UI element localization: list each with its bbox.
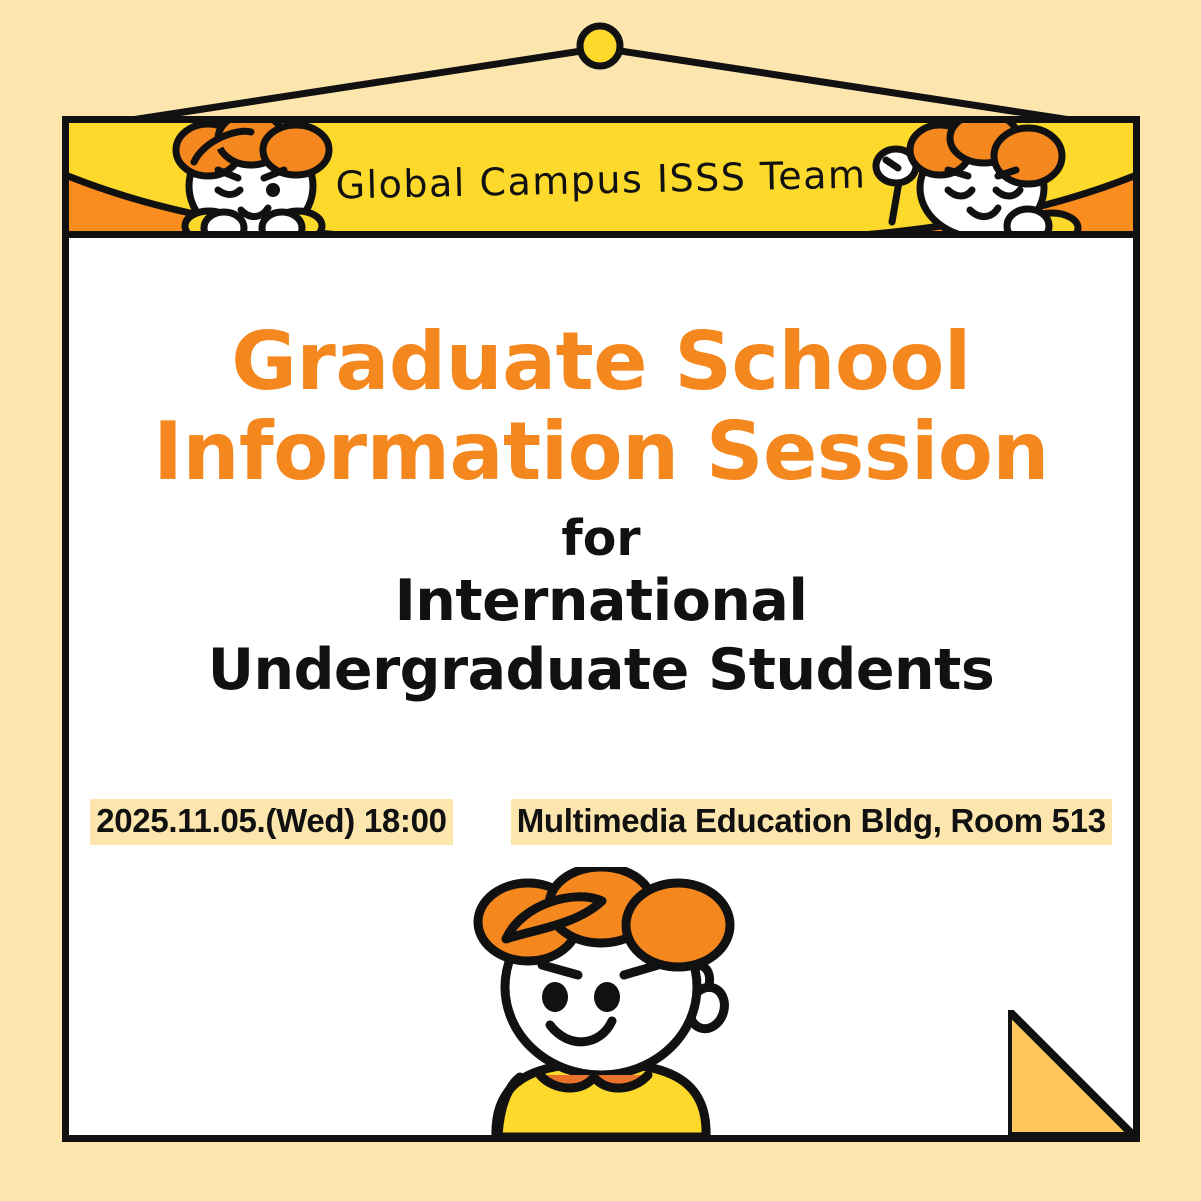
subtitle-line-2: Undergraduate Students bbox=[69, 636, 1133, 706]
right-character-hand bbox=[1007, 209, 1049, 238]
poster-root: Global Campus ISSS Team Graduate School … bbox=[0, 0, 1201, 1201]
poster-card: Global Campus ISSS Team Graduate School … bbox=[62, 116, 1140, 1142]
title-line-2: Information Session bbox=[69, 407, 1133, 497]
hanger-string-right bbox=[601, 48, 1077, 121]
title-line-1: Graduate School bbox=[69, 317, 1133, 407]
left-character-collar bbox=[238, 236, 272, 238]
main-character bbox=[436, 867, 766, 1137]
banner: Global Campus ISSS Team bbox=[68, 122, 1134, 238]
subtitle-line-1: International bbox=[69, 567, 1133, 637]
event-datetime: 2025.11.05.(Wed) 18:00 bbox=[90, 799, 453, 845]
left-character-eye-open bbox=[266, 183, 280, 197]
banner-character-right bbox=[856, 122, 1086, 238]
hanger-group bbox=[0, 0, 1201, 130]
hanger-string-left bbox=[125, 48, 601, 121]
left-character-hand-r bbox=[262, 212, 302, 238]
subtitle-for: for bbox=[69, 512, 1133, 567]
nail-icon bbox=[580, 26, 620, 66]
folded-corner-shape bbox=[1008, 1010, 1134, 1136]
title-block: Graduate School Information Session for … bbox=[69, 317, 1133, 706]
folded-corner bbox=[1008, 1010, 1134, 1136]
main-character-eye-right bbox=[594, 982, 620, 1012]
banner-character-left bbox=[146, 122, 356, 238]
main-character-eye-left bbox=[542, 982, 568, 1012]
event-venue: Multimedia Education Bldg, Room 513 bbox=[511, 799, 1112, 845]
info-row: 2025.11.05.(Wed) 18:00 Multimedia Educat… bbox=[69, 799, 1133, 845]
left-character-hand-l bbox=[204, 212, 244, 238]
